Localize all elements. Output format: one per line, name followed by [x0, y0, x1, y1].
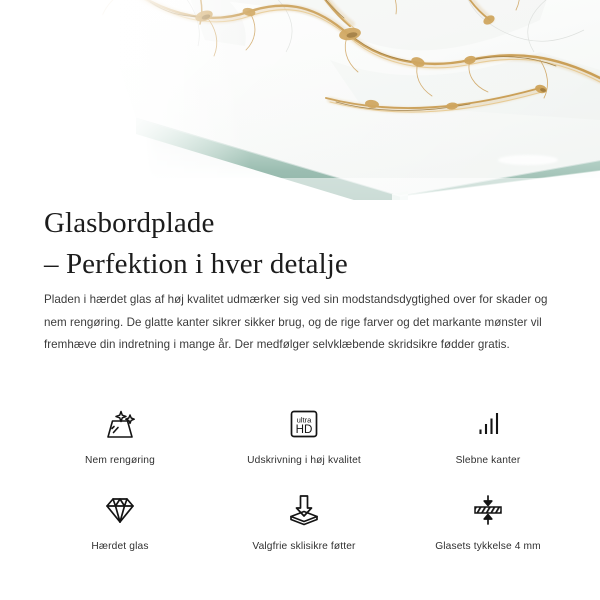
feature-item-tempered-glass: Hærdet glas	[28, 486, 212, 572]
ultra-hd-badge-bottom: HD	[296, 423, 313, 436]
ultra-hd-badge-icon: ultra HD	[283, 400, 325, 448]
page-title-line-2: – Perfektion i hver detalje	[44, 244, 564, 285]
feature-label-antislip-feet: Valgfrie sklisikre føtter	[252, 541, 355, 552]
feature-item-thickness: Glasets tykkelse 4 mm	[396, 486, 580, 572]
glass-tabletop-illustration	[0, 0, 600, 200]
feature-item-polished-edges: Slebne kanter	[396, 400, 580, 486]
feature-label-hd-print: Udskrivning i høj kvalitet	[247, 455, 361, 466]
glass-tabletop-photo	[0, 0, 600, 200]
diamond-icon	[99, 486, 141, 534]
feature-label-easy-cleaning: Nem rengøring	[85, 455, 155, 466]
feature-item-easy-cleaning: Nem rengøring	[28, 400, 212, 486]
product-description: Pladen i hærdet glas af høj kvalitet udm…	[44, 289, 556, 357]
page-title-line-1: Glasbordplade	[44, 207, 214, 239]
feature-label-polished-edges: Slebne kanter	[456, 455, 521, 466]
polished-edge-icon	[467, 400, 509, 448]
hero-bottom-fade	[0, 178, 600, 200]
product-info-page: Glasbordplade – Perfektion i hver detalj…	[0, 0, 600, 600]
feature-grid: Nem rengøring ultra HD Udskrivning i høj…	[28, 400, 580, 572]
feature-item-antislip-feet: Valgfrie sklisikre føtter	[212, 486, 396, 572]
arrow-into-pad-icon	[283, 486, 325, 534]
feature-item-hd-print: ultra HD Udskrivning i høj kvalitet	[212, 400, 396, 486]
hero-left-fade	[0, 0, 250, 200]
page-title: Glasbordplade – Perfektion i hver detalj…	[44, 203, 564, 285]
feature-label-tempered-glass: Hærdet glas	[91, 541, 148, 552]
thickness-arrows-icon	[467, 486, 509, 534]
feature-label-thickness: Glasets tykkelse 4 mm	[435, 541, 541, 552]
sparkle-surface-icon	[99, 400, 141, 448]
